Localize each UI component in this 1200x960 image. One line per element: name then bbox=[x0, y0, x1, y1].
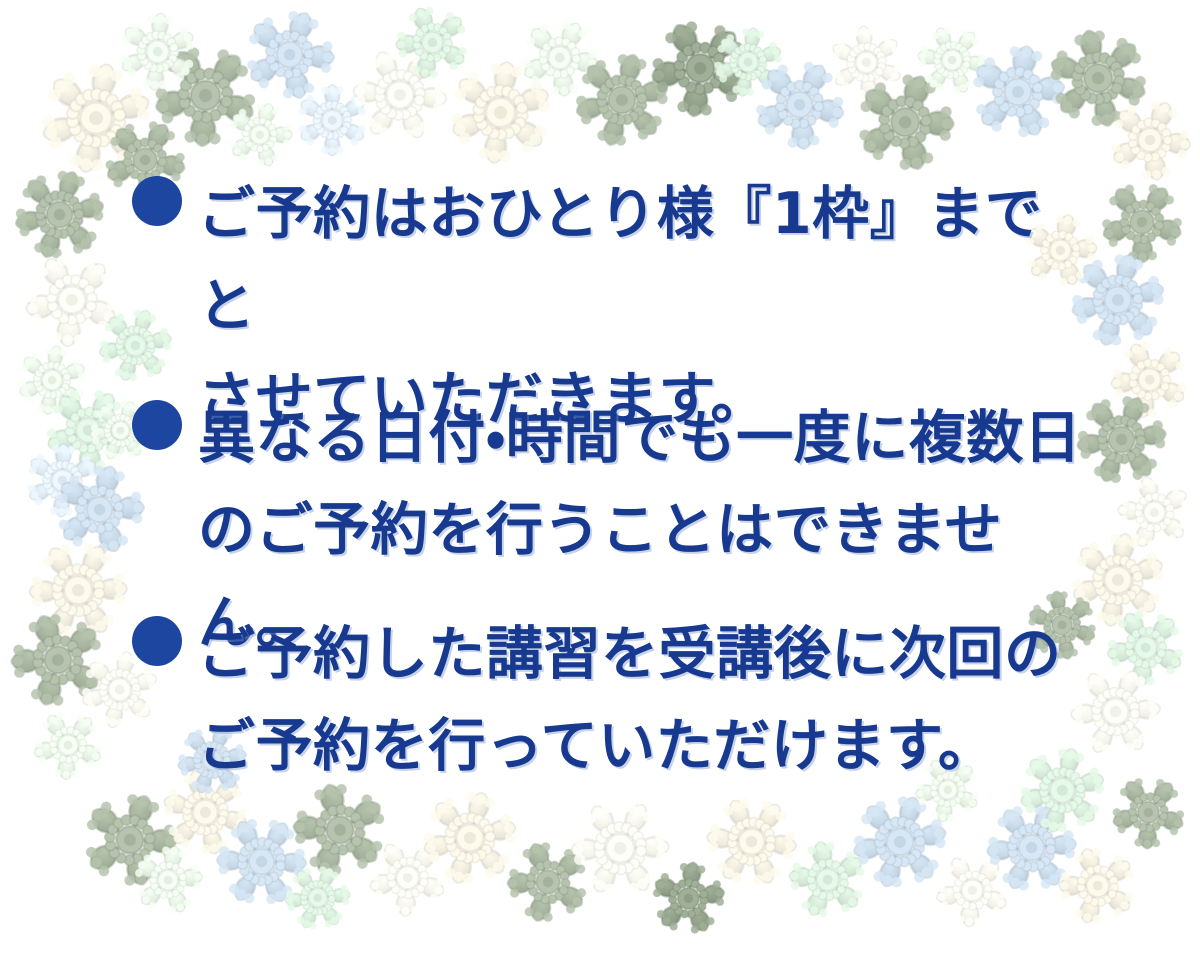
bullet-dot-icon bbox=[132, 400, 182, 450]
bullet-dot-icon bbox=[132, 616, 182, 666]
notice-item-next-booking-after-course: ご予約した講習を受講後に次回の ご予約を行っていただけます。 bbox=[132, 608, 1062, 793]
poster-canvas: ご予約はおひとり様『1枠』までと させていただきます。 異なる日付・時間でも一度… bbox=[0, 0, 1200, 960]
notice-text: ご予約した講習を受講後に次回の ご予約を行っていただけます。 bbox=[198, 608, 1062, 793]
bullet-dot-icon bbox=[132, 176, 182, 226]
notice-list: ご予約はおひとり様『1枠』までと させていただきます。 異なる日付・時間でも一度… bbox=[0, 0, 1200, 960]
